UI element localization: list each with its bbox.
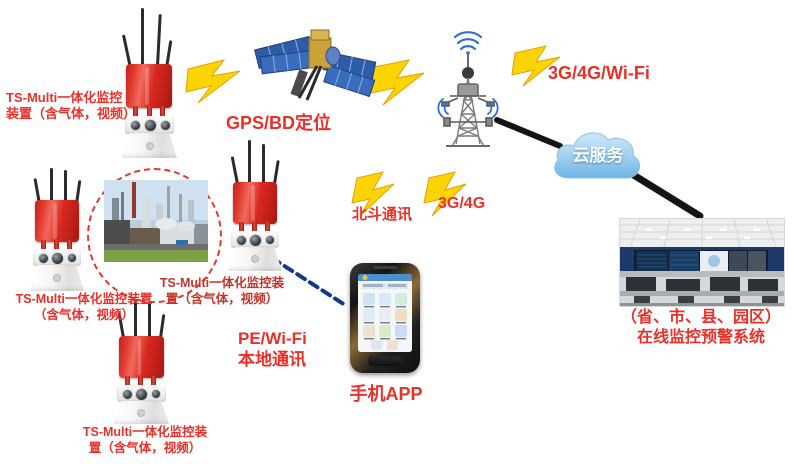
communication-tower	[428, 18, 518, 146]
ts-multi-device-top-left	[104, 8, 196, 158]
label-gps-bd: GPS/BD定位	[226, 112, 366, 135]
label-3g4g: 3G/4G	[438, 194, 528, 214]
label-device-top-left: TS-Multi一体化监控 装置（含气体，视频）	[6, 90, 146, 123]
label-device-mid-left: TS-Multi一体化监控装置 （含气体，视频）	[4, 292, 164, 323]
satellite	[247, 12, 377, 107]
label-3g4g-wifi: 3G/4G/Wi-Fi	[548, 62, 718, 85]
label-control-room: （省、市、县、园区） 在线监控预警系统	[608, 308, 794, 348]
ts-multi-device-mid-left	[20, 168, 108, 296]
industrial-plant-photo	[104, 180, 208, 262]
label-phone-app: 手机APP	[345, 383, 427, 406]
label-device-mid-right: TS-Multi一体化监控装 置（含气体，视频）	[152, 276, 292, 307]
label-local-comm: PE/Wi-Fi 本地通讯	[238, 328, 368, 371]
cloud-service-label: 云服务	[562, 141, 634, 166]
label-device-bottom: TS-Multi一体化监控装 置（含气体，视频）	[70, 425, 220, 456]
lightning-satellite-to-tower	[371, 60, 424, 105]
control-room-photo	[619, 218, 785, 307]
diagram-canvas: 云服务	[0, 0, 797, 464]
ts-multi-device-mid-right	[216, 140, 304, 270]
